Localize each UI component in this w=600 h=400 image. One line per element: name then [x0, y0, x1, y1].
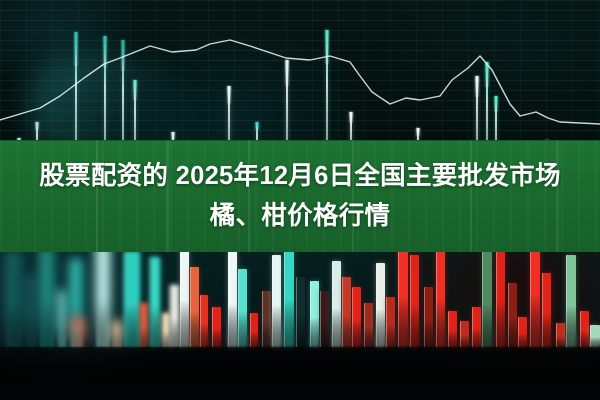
bar-reflection	[424, 320, 433, 347]
bar-reflection	[386, 325, 395, 348]
bar-reflection	[518, 334, 527, 348]
bar-reflection	[96, 300, 110, 347]
candle-body	[485, 62, 489, 87]
banner-title: 股票配资的 2025年12月6日全国主要批发市场 橘、柑价格行情	[0, 140, 600, 252]
bar-reflection	[40, 302, 54, 347]
candle-body	[255, 122, 259, 130]
bar-reflection	[190, 311, 199, 347]
bar-reflection	[320, 322, 329, 347]
bar-reflection	[398, 299, 408, 347]
bar-reflection	[460, 335, 469, 347]
bar-reflection	[262, 322, 271, 347]
banner-image: 股票配资的 2025年12月6日全国主要批发市场 橘、柑价格行情	[0, 0, 600, 400]
title-line-2: 橘、柑价格行情	[210, 199, 391, 233]
bar-reflection	[238, 312, 247, 347]
candle-body	[325, 30, 329, 64]
bar-reflection	[496, 300, 505, 347]
bar-reflection	[580, 331, 589, 347]
bar-reflection	[590, 337, 600, 347]
bar-reflection	[140, 327, 148, 347]
candle-body	[285, 60, 289, 86]
bar-reflection	[448, 331, 457, 347]
bar-reflection	[376, 309, 385, 347]
bar-reflection	[472, 329, 481, 347]
bar-reflection	[530, 299, 540, 347]
bar-reflection	[364, 327, 373, 347]
bar-reflection	[150, 307, 160, 348]
reflective-floor	[0, 347, 600, 400]
candle-body	[227, 86, 231, 104]
bar-reflection	[284, 299, 294, 347]
bar-reflection	[436, 299, 445, 347]
candle-body	[121, 40, 125, 71]
bar-reflection	[212, 329, 221, 347]
bar-reflection	[352, 320, 361, 347]
bar-reflection	[6, 304, 22, 347]
candle-body	[35, 122, 39, 130]
candle-body	[475, 76, 479, 97]
bar-reflection	[296, 316, 305, 348]
candle-body	[171, 132, 175, 140]
candle-body	[74, 32, 78, 66]
bar-reflection	[556, 336, 565, 347]
bar-reflection	[272, 306, 281, 347]
bar-reflection	[58, 322, 66, 347]
bar-reflection	[228, 304, 237, 347]
bar-reflection	[482, 304, 492, 347]
bar-reflection	[566, 306, 576, 347]
candle-body	[494, 96, 498, 112]
bar-reflection	[26, 315, 36, 347]
bar-reflection	[124, 304, 140, 347]
bottom-bar-scene	[0, 252, 600, 400]
title-line-1: 股票配资的 2025年12月6日全国主要批发市场	[39, 159, 561, 193]
candle-body	[349, 112, 353, 123]
candle-body	[103, 36, 107, 68]
bar-reflection	[162, 332, 170, 347]
candle-body	[133, 80, 137, 100]
bar-reflection	[112, 335, 122, 347]
bar-reflection	[342, 316, 351, 348]
candle-body	[416, 128, 420, 136]
bar-reflection	[200, 324, 208, 347]
bar-reflection	[170, 319, 179, 347]
bar-reflection	[250, 332, 258, 347]
bar-reflection	[508, 318, 517, 347]
bar-reflection	[542, 314, 551, 347]
bar-reflection	[332, 308, 341, 347]
bar-reflection	[410, 306, 419, 347]
bar-reflection	[180, 300, 189, 347]
bar-reflection	[72, 334, 84, 348]
bar-reflection	[310, 317, 319, 347]
